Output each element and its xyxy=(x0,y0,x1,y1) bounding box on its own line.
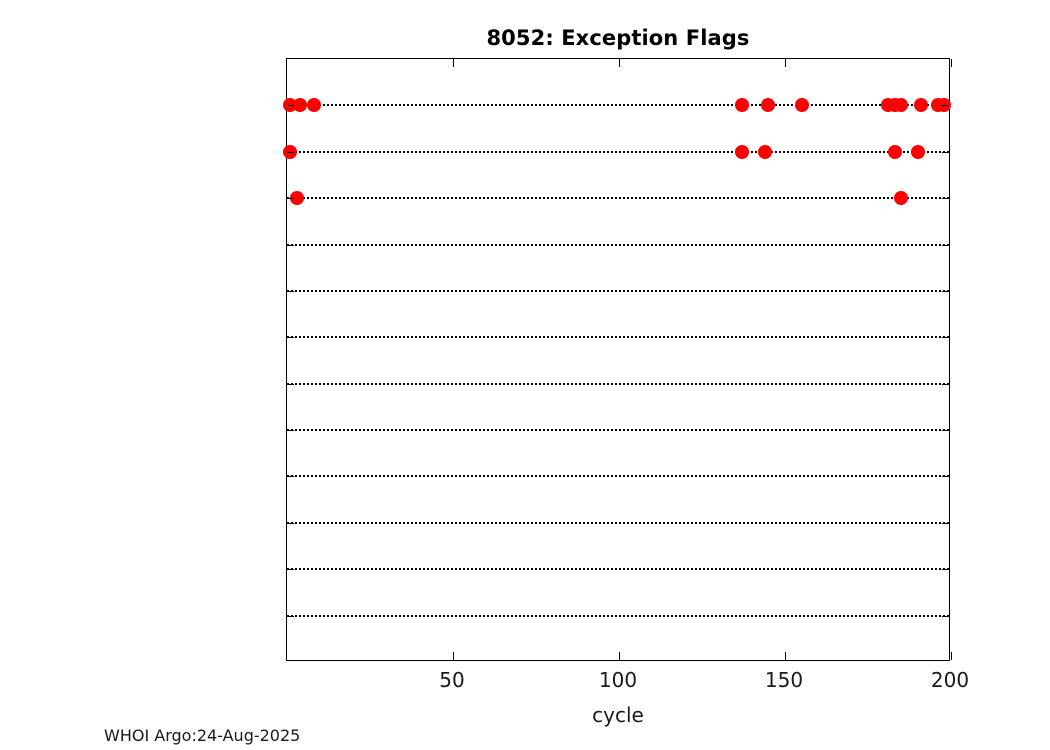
x-axis-tick xyxy=(453,652,454,660)
gridline-row xyxy=(287,336,949,338)
gridline-row xyxy=(287,522,949,524)
x-axis-tick xyxy=(785,652,786,660)
data-point-marker xyxy=(911,145,925,159)
y-axis-tick xyxy=(287,105,294,106)
data-point-marker xyxy=(894,98,908,112)
data-point-marker xyxy=(894,191,908,205)
y-axis-tick xyxy=(942,291,949,292)
data-point-marker xyxy=(914,98,928,112)
y-axis-tick xyxy=(287,430,294,431)
exception-flags-figure: 8052: Exception Flags VALVE FAILED TO OP… xyxy=(0,0,1050,750)
footer-attribution: WHOI Argo:24-Aug-2025 xyxy=(104,726,300,745)
x-axis-tick-label: 100 xyxy=(599,668,637,692)
y-axis-tick xyxy=(287,198,294,199)
y-axis-tick xyxy=(942,245,949,246)
data-point-marker xyxy=(795,98,809,112)
x-axis-title: cycle xyxy=(286,703,950,727)
gridline-row xyxy=(287,151,949,153)
gridline-row xyxy=(287,475,949,477)
x-axis-tick-label: 200 xyxy=(931,668,969,692)
gridline-row xyxy=(287,429,949,431)
x-axis-tick xyxy=(619,59,620,67)
x-axis-tick xyxy=(619,652,620,660)
data-point-marker xyxy=(735,145,749,159)
x-axis-tick-label: 150 xyxy=(765,668,803,692)
y-axis-tick xyxy=(942,523,949,524)
data-point-marker xyxy=(758,145,772,159)
y-axis-tick xyxy=(942,476,949,477)
y-axis-tick xyxy=(942,337,949,338)
y-axis-tick xyxy=(287,384,294,385)
y-axis-tick xyxy=(287,476,294,477)
x-axis-tick-label: 50 xyxy=(439,668,464,692)
plot-inner xyxy=(287,59,949,660)
x-axis-tick xyxy=(453,59,454,67)
x-axis-tick xyxy=(951,652,952,660)
data-point-marker xyxy=(888,145,902,159)
gridline-row xyxy=(287,615,949,617)
y-axis-tick xyxy=(287,245,294,246)
gridline-row xyxy=(287,104,949,106)
page-title: 8052: Exception Flags xyxy=(286,26,950,50)
data-point-marker xyxy=(293,98,307,112)
x-axis-tick xyxy=(785,59,786,67)
y-axis-tick xyxy=(942,569,949,570)
y-axis-tick xyxy=(942,384,949,385)
y-axis-tick xyxy=(287,569,294,570)
gridline-row xyxy=(287,244,949,246)
data-point-marker xyxy=(307,98,321,112)
x-axis-tick xyxy=(951,59,952,67)
y-axis-tick xyxy=(942,430,949,431)
y-axis-tick xyxy=(942,152,949,153)
y-axis-tick xyxy=(287,337,294,338)
plot-area xyxy=(286,58,950,661)
y-axis-tick xyxy=(287,616,294,617)
data-point-marker xyxy=(735,98,749,112)
y-axis-tick xyxy=(942,616,949,617)
gridline-row xyxy=(287,568,949,570)
y-axis-tick xyxy=(287,152,294,153)
data-point-marker xyxy=(761,98,775,112)
gridline-row xyxy=(287,290,949,292)
y-axis-tick xyxy=(287,291,294,292)
y-axis-tick xyxy=(287,523,294,524)
gridline-row xyxy=(287,197,949,199)
y-axis-tick xyxy=(942,198,949,199)
y-axis-tick xyxy=(942,105,949,106)
gridline-row xyxy=(287,383,949,385)
